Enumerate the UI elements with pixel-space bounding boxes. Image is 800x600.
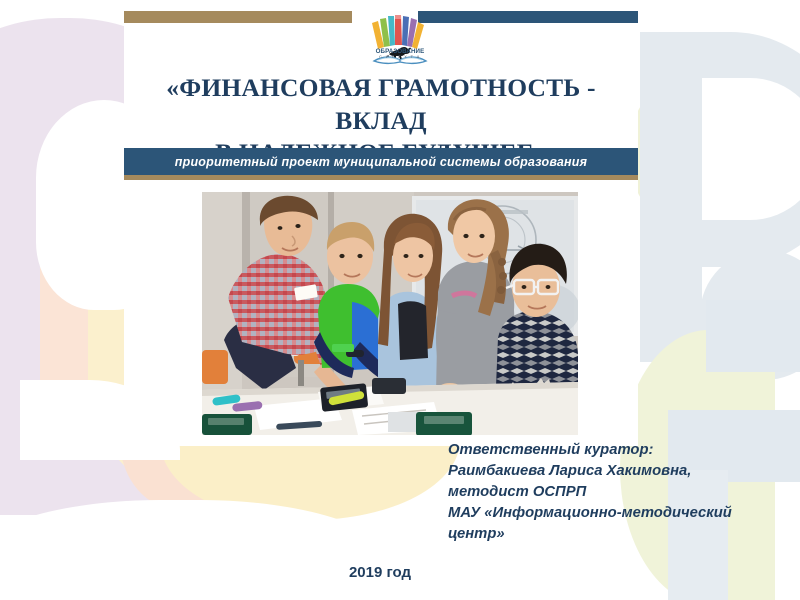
letter-p-bowl-shape	[690, 32, 800, 267]
blue-grey-circle	[700, 250, 800, 380]
year-label: 2019 год	[300, 564, 460, 581]
curator-line-4: МАУ «Информационно-методический	[448, 503, 796, 524]
curator-info: Ответственный куратор: Раимбакиева Ларис…	[448, 440, 796, 545]
curator-line-3: методист ОСПРП	[448, 482, 796, 503]
letter-p-counter-cutout	[702, 78, 800, 220]
subtitle-text: приоритетный проект муниципальной систем…	[175, 155, 587, 169]
curator-line-2: Раимбакиева Лариса Хакимовна,	[448, 461, 796, 482]
logo-caption-main: ОБРАЗОВАНИЕ	[376, 48, 425, 55]
curator-line-1: Ответственный куратор:	[448, 440, 796, 461]
gold-rule-top-left	[124, 11, 352, 23]
presentation-slide: ОБРАЗОВАНИЕ С У Р Г У Т А «ФИНАНСОВАЯ ГР…	[0, 0, 800, 600]
logo-caption: ОБРАЗОВАНИЕ С У Р Г У Т А	[358, 49, 442, 59]
page-title-line-1: «ФИНАНСОВАЯ ГРАМОТНОСТЬ - ВКЛАД	[124, 72, 638, 137]
classroom-financial-literacy-photo	[202, 192, 578, 435]
white-cutout-bottom	[0, 500, 400, 600]
pale-lime-circle	[628, 62, 800, 242]
navy-rule-top-right	[418, 11, 638, 23]
subtitle-ribbon: приоритетный проект муниципальной систем…	[124, 148, 638, 175]
curator-line-5: центр»	[448, 524, 796, 545]
blue-grey-rect-upper	[706, 300, 800, 372]
logo-caption-sub: С У Р Г У Т А	[358, 56, 442, 60]
gold-rule-under-subtitle	[124, 175, 638, 180]
letter-p-stem-shape	[640, 32, 702, 362]
